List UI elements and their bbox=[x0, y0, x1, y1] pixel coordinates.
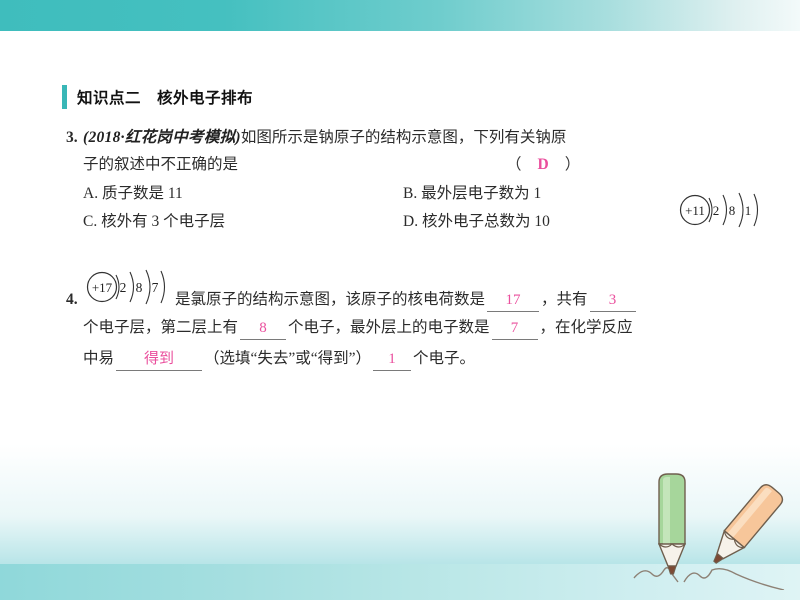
question-3-line-1: 3. (2018·红花岗中考模拟) 如图所示是钠原子的结构示意图，下列有关钠原 bbox=[66, 124, 766, 151]
sodium-shell-2: 8 bbox=[729, 203, 736, 218]
slide-canvas: 知识点二 核外电子排布 3. (2018·红花岗中考模拟) 如图所示是钠原子的结… bbox=[0, 0, 800, 600]
chlorine-atom-svg: +17 2 8 7 bbox=[84, 268, 170, 306]
blank-shell-count[interactable]: 3 bbox=[590, 289, 636, 312]
answer-paren-close: ） bbox=[565, 151, 581, 178]
sodium-atom-structure-diagram: +11 2 8 1 bbox=[678, 190, 762, 230]
top-teal-banner bbox=[0, 0, 800, 31]
sodium-shell-3: 1 bbox=[745, 203, 752, 218]
question-3-stem-cont: 子的叙述中不正确的是 bbox=[83, 151, 238, 178]
section-title: 知识点二 核外电子排布 bbox=[77, 86, 253, 108]
question-3-line-2: 子的叙述中不正确的是 （ D ） bbox=[66, 151, 766, 178]
question-4-seg-8: 个电子。 bbox=[413, 345, 475, 372]
question-4-line-1: 4. +17 2 8 7 是氯原子的结构示意图，该原子的核电荷数是 17 ，共有… bbox=[66, 266, 766, 293]
question-3-stem: 如图所示是钠原子的结构示意图，下列有关钠原 bbox=[241, 124, 567, 151]
green-pencil-icon bbox=[659, 474, 685, 574]
blank-second-shell-electrons[interactable]: 8 bbox=[240, 317, 286, 340]
question-4-number: 4. bbox=[66, 286, 83, 313]
orange-pencil-icon bbox=[705, 482, 785, 571]
chlorine-atom-structure-diagram: +17 2 8 7 bbox=[84, 268, 170, 306]
question-4-seg-5: ，在化学反应 bbox=[540, 314, 633, 341]
sodium-atom-svg: +11 2 8 1 bbox=[678, 190, 762, 230]
blank-outer-shell-electrons[interactable]: 7 bbox=[492, 317, 538, 340]
sodium-shell-1: 2 bbox=[713, 203, 720, 218]
chlorine-shell-2: 8 bbox=[136, 280, 143, 295]
question-3-number: 3. bbox=[66, 124, 83, 151]
question-3-source: (2018·红花岗中考模拟) bbox=[83, 124, 241, 151]
option-b: B. 最外层电子数为 1 bbox=[403, 180, 541, 208]
option-row-2: C. 核外有 3 个电子层 D. 核外电子总数为 10 bbox=[83, 208, 723, 236]
question-4-line-3: 中易 得到 （选填“失去”或“得到”） 1 个电子。 bbox=[66, 345, 766, 372]
option-d: D. 核外电子总数为 10 bbox=[403, 208, 550, 236]
blank-electron-count[interactable]: 1 bbox=[373, 348, 411, 371]
pencils-svg bbox=[632, 470, 792, 590]
option-c: C. 核外有 3 个电子层 bbox=[83, 208, 403, 236]
question-3-options: A. 质子数是 11 B. 最外层电子数为 1 C. 核外有 3 个电子层 D.… bbox=[83, 180, 723, 236]
question-4-line-2: 个电子层，第二层上有 8 个电子，最外层上的电子数是 7 ，在化学反应 bbox=[66, 314, 766, 341]
sodium-nucleus-label: +11 bbox=[685, 203, 705, 218]
question-4-seg-2: ，共有 bbox=[541, 286, 588, 313]
squiggle-right bbox=[684, 569, 784, 590]
question-4-seg-3: 个电子层，第二层上有 bbox=[83, 314, 238, 341]
chlorine-shell-1: 2 bbox=[120, 280, 127, 295]
pencil-decoration bbox=[632, 470, 792, 590]
question-3: 3. (2018·红花岗中考模拟) 如图所示是钠原子的结构示意图，下列有关钠原 … bbox=[66, 124, 766, 178]
chlorine-shell-3: 7 bbox=[152, 280, 159, 295]
chlorine-nucleus-label: +17 bbox=[92, 280, 113, 295]
question-3-answer: D bbox=[522, 151, 565, 178]
question-4-seg-1: 是氯原子的结构示意图，该原子的核电荷数是 bbox=[175, 286, 485, 313]
section-accent-bar bbox=[62, 85, 67, 109]
question-4-seg-7: （选填“失去”或“得到”） bbox=[204, 345, 371, 372]
question-4: 4. +17 2 8 7 是氯原子的结构示意图，该原子的核电荷数是 17 ，共有… bbox=[66, 266, 766, 372]
blank-nuclear-charge[interactable]: 17 bbox=[487, 289, 539, 312]
section-heading: 知识点二 核外电子排布 bbox=[62, 84, 253, 110]
question-4-seg-4: 个电子，最外层上的电子数是 bbox=[288, 314, 490, 341]
option-a: A. 质子数是 11 bbox=[83, 180, 403, 208]
option-row-1: A. 质子数是 11 B. 最外层电子数为 1 bbox=[83, 180, 723, 208]
answer-paren-open: （ bbox=[506, 151, 522, 178]
blank-gain-or-lose[interactable]: 得到 bbox=[116, 348, 202, 371]
question-4-seg-6: 中易 bbox=[83, 345, 114, 372]
